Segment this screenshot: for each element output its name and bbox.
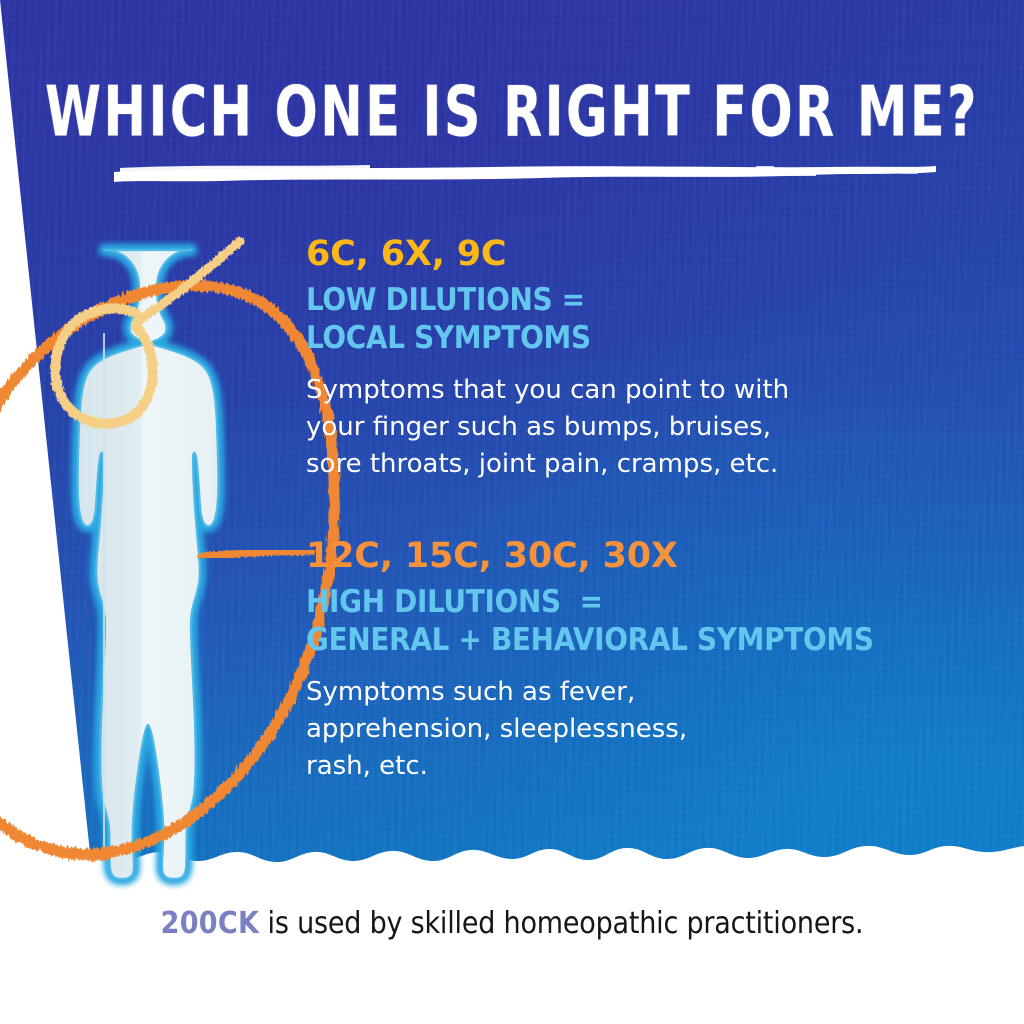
page-title: WHICH ONE IS RIGHT FOR ME? (5, 78, 1019, 148)
subheading-high: HIGH DILUTIONS = GENERAL + BEHAVIORAL SY… (306, 584, 874, 660)
orange-pointer-tick (202, 551, 312, 557)
footer-potency-label: 200CK (161, 906, 260, 941)
footer-note-text: is used by skilled homeopathic practitio… (259, 906, 863, 941)
dose-label-low: 6C, 6X, 9C (306, 236, 789, 273)
subheading-low: LOW DILUTIONS = LOCAL SYMPTOMS (306, 282, 789, 358)
shoulder-highlight-circle (55, 241, 240, 424)
infographic-poster: WHICH ONE IS RIGHT FOR ME? 6C, 6X, 9C LO… (0, 0, 1024, 1024)
footer-note: 200CK is used by skilled homeopathic pra… (0, 906, 1024, 941)
orange-brush-circle (0, 286, 334, 858)
body-text-low: Symptoms that you can point to with your… (306, 372, 789, 483)
dilution-section-high: 12C, 15C, 30C, 30X HIGH DILUTIONS = GENE… (306, 538, 874, 784)
body-text-high: Symptoms such as fever, apprehension, sl… (306, 674, 874, 785)
dilution-section-low: 6C, 6X, 9C LOW DILUTIONS = LOCAL SYMPTOM… (306, 236, 789, 482)
dose-label-high: 12C, 15C, 30C, 30X (306, 538, 874, 575)
title-brush-underline (110, 158, 940, 194)
page-title-block: WHICH ONE IS RIGHT FOR ME? (0, 78, 1024, 135)
